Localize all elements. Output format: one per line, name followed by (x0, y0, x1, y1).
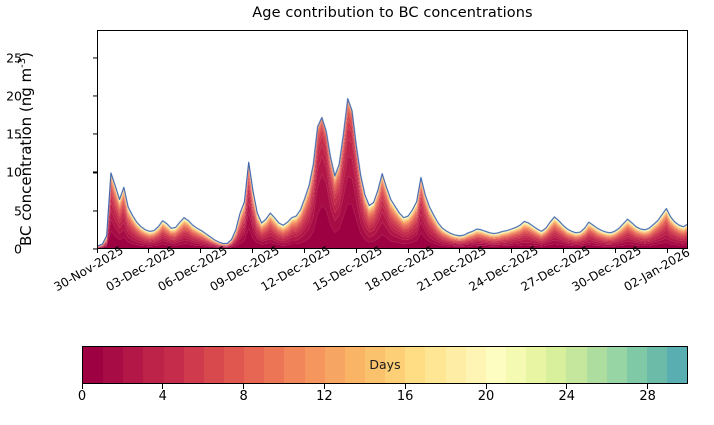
colorbar-segment (385, 347, 405, 383)
y-tick-label: 10 (0, 165, 22, 180)
colorbar-segment (164, 347, 184, 383)
y-tick-mark (93, 134, 97, 135)
colorbar-segment (607, 347, 627, 383)
colorbar-tick-mark (82, 384, 83, 389)
colorbar-tick-mark (405, 384, 406, 389)
y-tick-mark (93, 95, 97, 96)
x-tick-mark (408, 249, 409, 253)
page-title: Age contribution to BC concentrations (97, 5, 688, 21)
x-tick-mark (304, 249, 305, 253)
colorbar-tick-label: 16 (397, 389, 414, 404)
colorbar-segment (405, 347, 425, 383)
x-tick-mark (667, 249, 668, 253)
x-tick-mark (148, 249, 149, 253)
colorbar-segment (466, 347, 486, 383)
colorbar-tick-mark (324, 384, 325, 389)
colorbar-segment (566, 347, 586, 383)
stacked-area-canvas (98, 31, 687, 248)
colorbar-segment (425, 347, 445, 383)
figure: Age contribution to BC concentrations BC… (0, 0, 714, 425)
plot-area (97, 30, 688, 249)
colorbar-segment (647, 347, 667, 383)
colorbar-segment (204, 347, 224, 383)
colorbar-tick-mark (162, 384, 163, 389)
x-tick-mark (615, 249, 616, 253)
colorbar-segment (305, 347, 325, 383)
y-tick-label: 20 (0, 88, 22, 103)
colorbar-segment (526, 347, 546, 383)
y-tick-label: 0 (0, 242, 22, 257)
colorbar-segment (264, 347, 284, 383)
colorbar-segment (244, 347, 264, 383)
x-tick-mark (252, 249, 253, 253)
colorbar-segment (486, 347, 506, 383)
colorbar-segment (123, 347, 143, 383)
x-tick-mark (356, 249, 357, 253)
colorbar-segment (224, 347, 244, 383)
y-tick-label: 25 (0, 50, 22, 65)
colorbar[interactable] (82, 346, 688, 384)
colorbar-segment (667, 347, 687, 383)
y-tick-label: 5 (0, 203, 22, 218)
colorbar-segment (184, 347, 204, 383)
x-tick-mark (459, 249, 460, 253)
colorbar-segment (627, 347, 647, 383)
y-tick-label: 15 (0, 127, 22, 142)
colorbar-tick-label: 28 (639, 389, 656, 404)
colorbar-tick-mark (486, 384, 487, 389)
colorbar-segment (325, 347, 345, 383)
colorbar-tick-label: 20 (478, 389, 495, 404)
x-tick-label: 30-Nov-2025 (52, 254, 107, 294)
colorbar-tick-label: 0 (78, 389, 86, 404)
x-tick-mark (563, 249, 564, 253)
colorbar-tick-label: 8 (239, 389, 247, 404)
x-tick-mark (200, 249, 201, 253)
colorbar-tick-label: 12 (316, 389, 333, 404)
colorbar-segment (284, 347, 304, 383)
colorbar-segment (446, 347, 466, 383)
colorbar-segment (546, 347, 566, 383)
colorbar-segment (83, 347, 103, 383)
x-tick-mark (97, 249, 98, 253)
y-tick-mark (93, 57, 97, 58)
colorbar-tick-mark (243, 384, 244, 389)
colorbar-tick-mark (647, 384, 648, 389)
y-tick-mark (93, 210, 97, 211)
colorbar-segment (143, 347, 163, 383)
colorbar-tick-mark (566, 384, 567, 389)
colorbar-segment (345, 347, 365, 383)
colorbar-segment (103, 347, 123, 383)
colorbar-segment (587, 347, 607, 383)
colorbar-segment (365, 347, 385, 383)
y-tick-mark (93, 172, 97, 173)
colorbar-segment (506, 347, 526, 383)
colorbar-tick-label: 24 (559, 389, 576, 404)
colorbar-tick-label: 4 (159, 389, 167, 404)
x-tick-mark (511, 249, 512, 253)
